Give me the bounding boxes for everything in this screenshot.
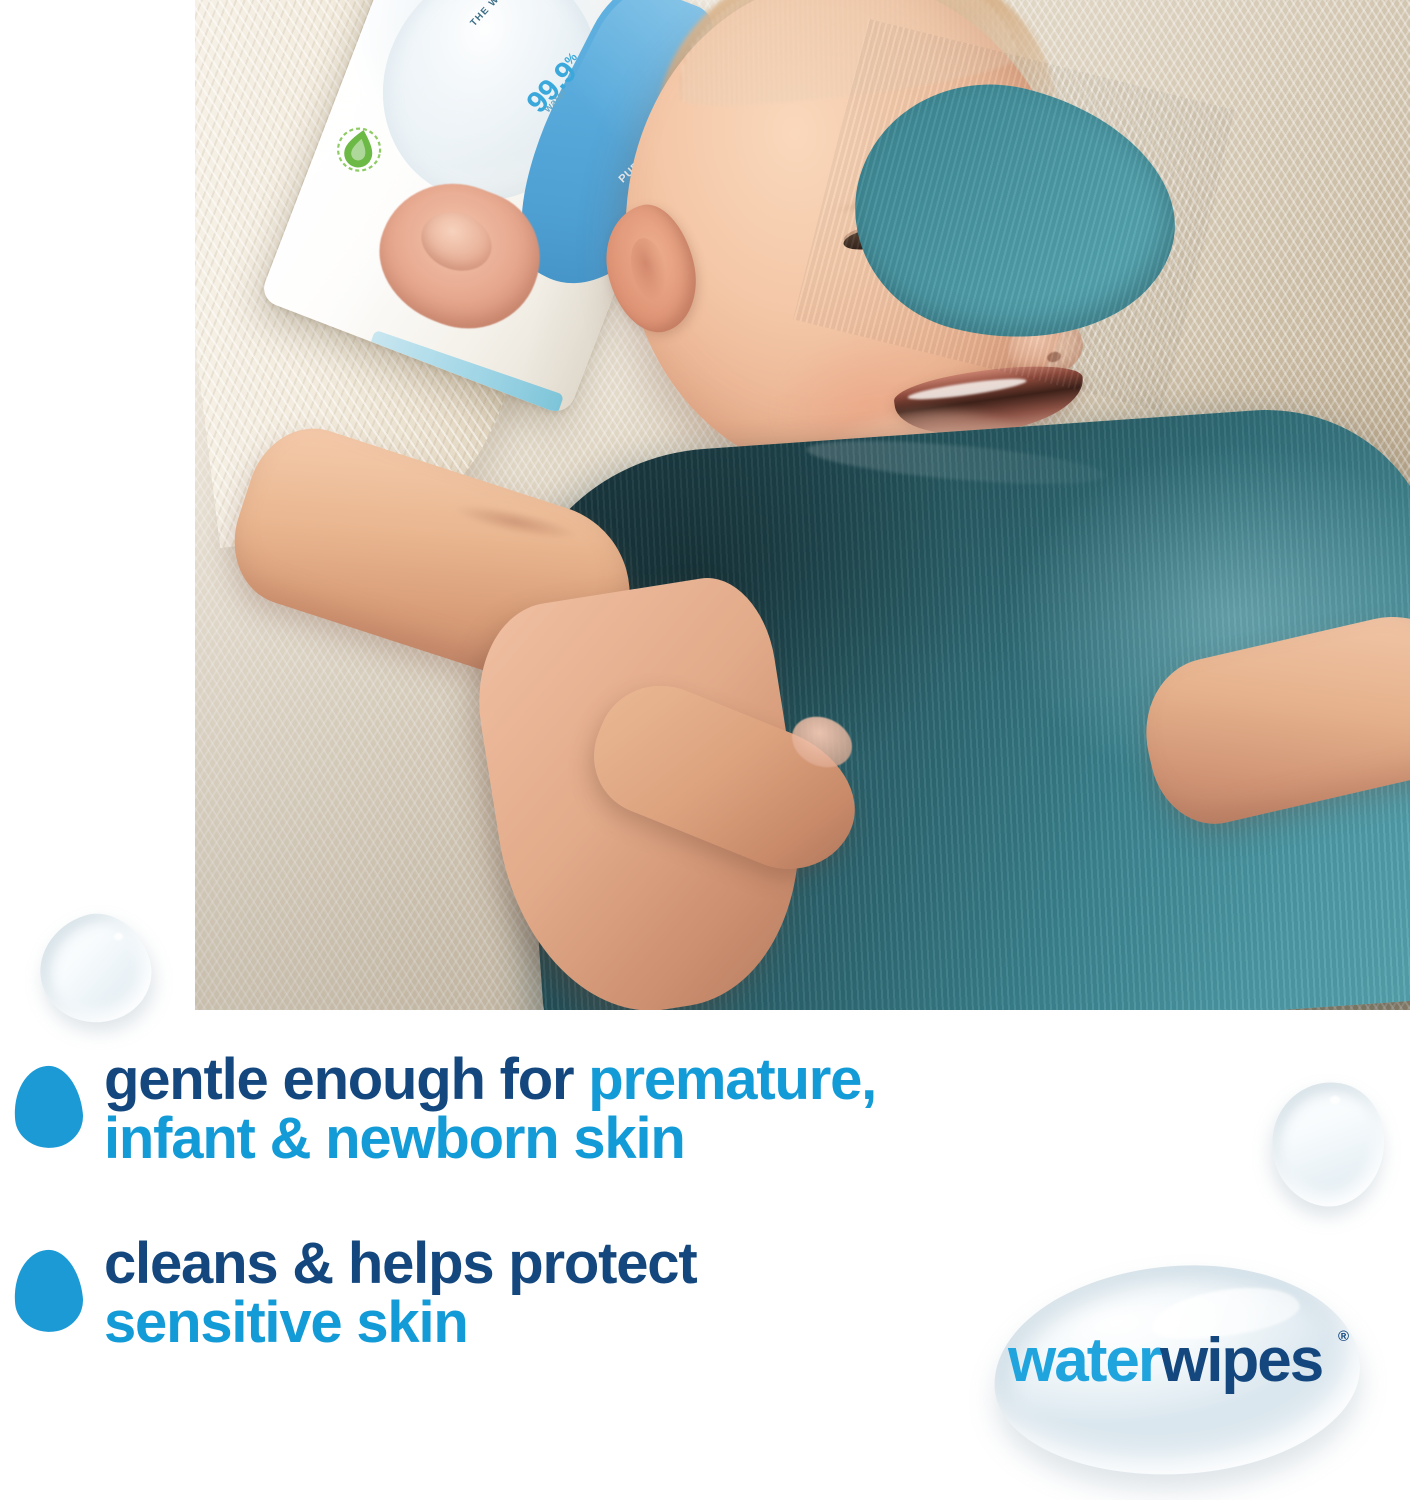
baby-figure bbox=[195, 0, 1410, 1010]
ad-canvas: PUREST BABY WIPES WaterWipes THE WORLD'S… bbox=[0, 0, 1410, 1500]
hero-photo-content: PUREST BABY WIPES WaterWipes THE WORLD'S… bbox=[195, 0, 1410, 1010]
benefit-line-1-dark: gentle enough for bbox=[104, 1047, 588, 1112]
benefit-list: gentle enough for premature, infant & ne… bbox=[0, 1050, 1000, 1419]
brand-word-water: water bbox=[1008, 1326, 1160, 1395]
benefit-item-gentle: gentle enough for premature, infant & ne… bbox=[0, 1050, 1000, 1168]
droplet-body bbox=[1262, 1073, 1394, 1215]
benefit-line-2: infant & newborn skin bbox=[104, 1109, 876, 1168]
brand-wordmark: waterwipes bbox=[1008, 1330, 1322, 1392]
water-droplet-right bbox=[1272, 1082, 1384, 1206]
benefit-text-gentle: gentle enough for premature, infant & ne… bbox=[104, 1050, 876, 1168]
benefit-line-1-light: premature, bbox=[588, 1047, 876, 1112]
droplet-highlight bbox=[114, 933, 123, 940]
bullet-droplet-icon bbox=[10, 1247, 86, 1336]
waterwipes-brand-logo: waterwipes ® bbox=[960, 1252, 1392, 1488]
bullet-droplet-icon bbox=[10, 1063, 86, 1152]
benefit-line-1: cleans & helps protect bbox=[104, 1234, 696, 1293]
droplet-highlight bbox=[1330, 1096, 1340, 1104]
benefit-line-1: gentle enough for premature, bbox=[104, 1050, 876, 1109]
droplet-body bbox=[26, 901, 164, 1038]
benefit-line-2: sensitive skin bbox=[104, 1293, 696, 1352]
benefit-item-cleans: cleans & helps protect sensitive skin bbox=[0, 1234, 1000, 1352]
registered-trademark-mark: ® bbox=[1338, 1328, 1349, 1345]
onesie-right-sleeve bbox=[830, 55, 1201, 375]
water-droplet-left bbox=[40, 915, 150, 1023]
benefit-text-cleans: cleans & helps protect sensitive skin bbox=[104, 1234, 696, 1352]
brand-word-wipes: wipes bbox=[1160, 1326, 1322, 1395]
hero-photo-panel: PUREST BABY WIPES WaterWipes THE WORLD'S… bbox=[195, 0, 1410, 1010]
